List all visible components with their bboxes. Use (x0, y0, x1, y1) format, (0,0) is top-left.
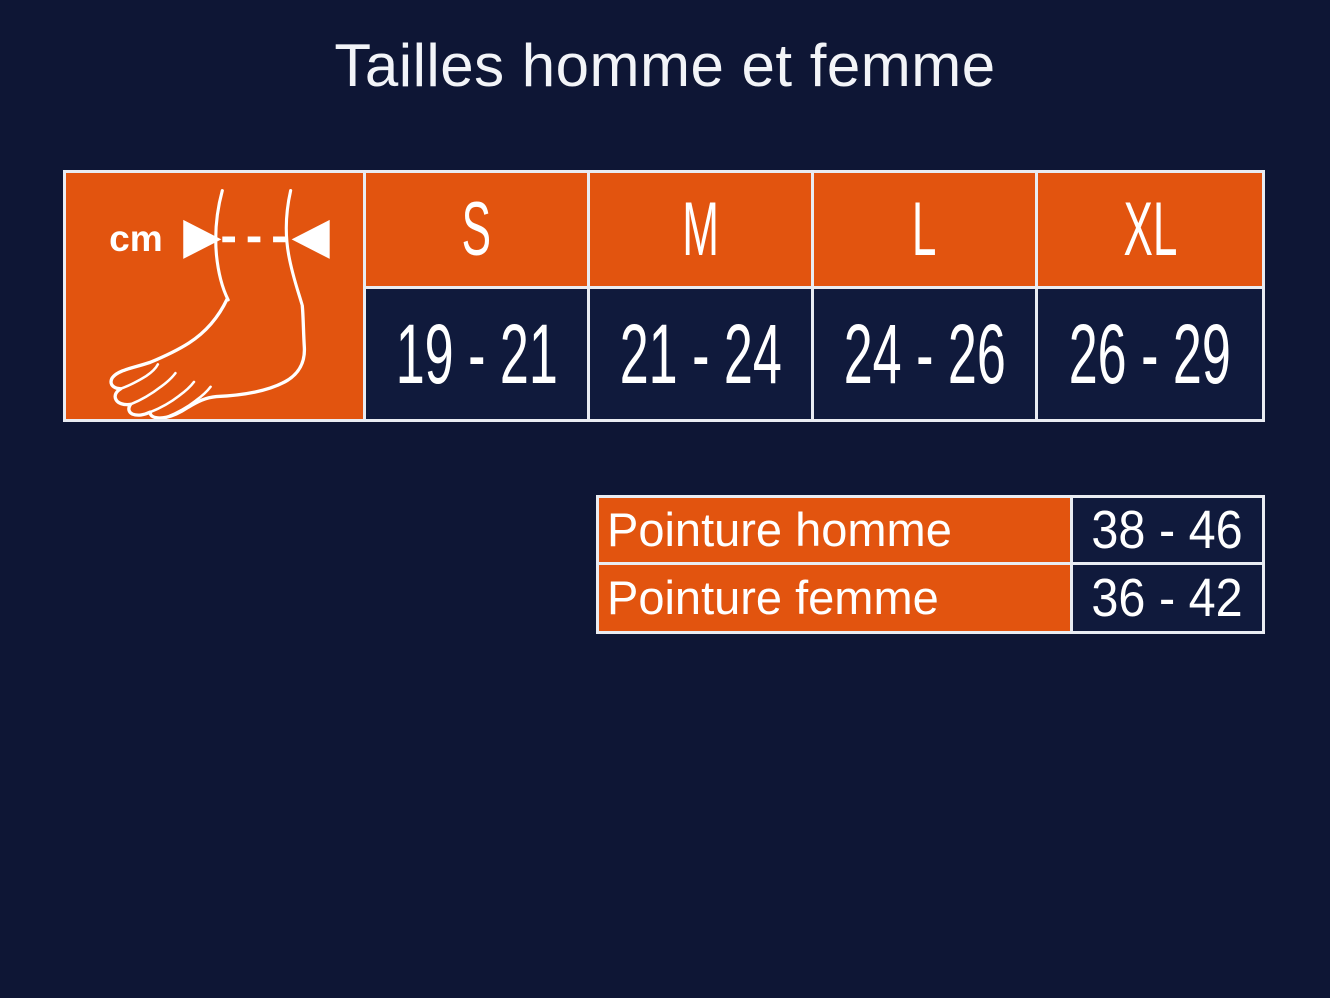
toe-4 (167, 387, 211, 417)
size-value-label: 19 - 21 (395, 312, 557, 396)
pointure-row-value: 38 - 46 (1092, 503, 1243, 557)
foot-measure-cell: cm (66, 173, 366, 419)
toe-2 (131, 373, 176, 404)
size-header-xl: XL (1038, 173, 1262, 289)
pointure-femme-label-cell: Pointure femme (599, 565, 1073, 632)
pointure-homme-value-cell: 38 - 46 (1073, 498, 1262, 565)
size-value-m: 21 - 24 (590, 289, 814, 419)
pointure-homme-label-cell: Pointure homme (599, 498, 1073, 565)
pointure-row-value: 36 - 42 (1092, 571, 1243, 625)
pointure-femme-value-cell: 36 - 42 (1073, 565, 1262, 632)
size-value-l: 24 - 26 (814, 289, 1038, 419)
pointure-row-label: Pointure homme (607, 506, 952, 553)
size-header-l: L (814, 173, 1038, 289)
unit-label-cm: cm (109, 217, 163, 259)
arrow-left-icon (292, 220, 330, 259)
size-value-label: 26 - 29 (1069, 312, 1231, 396)
size-value-label: 21 - 24 (619, 312, 781, 396)
size-value-xl: 26 - 29 (1038, 289, 1262, 419)
size-header-label: S (462, 192, 491, 268)
page-title: Tailles homme et femme (0, 34, 1330, 97)
size-header-s: S (366, 173, 590, 289)
pointure-table: Pointure homme 38 - 46 Pointure femme 36… (596, 495, 1265, 634)
size-header-label: L (912, 192, 937, 268)
size-table: cm S M L XL 19 - 21 (63, 170, 1265, 422)
size-header-label: M (682, 192, 719, 268)
size-header-m: M (590, 173, 814, 289)
size-value-s: 19 - 21 (366, 289, 590, 419)
foot-measure-icon: cm (66, 173, 363, 419)
pointure-row-label: Pointure femme (607, 574, 939, 621)
size-value-label: 24 - 26 (843, 312, 1005, 396)
size-header-label: XL (1123, 192, 1177, 268)
